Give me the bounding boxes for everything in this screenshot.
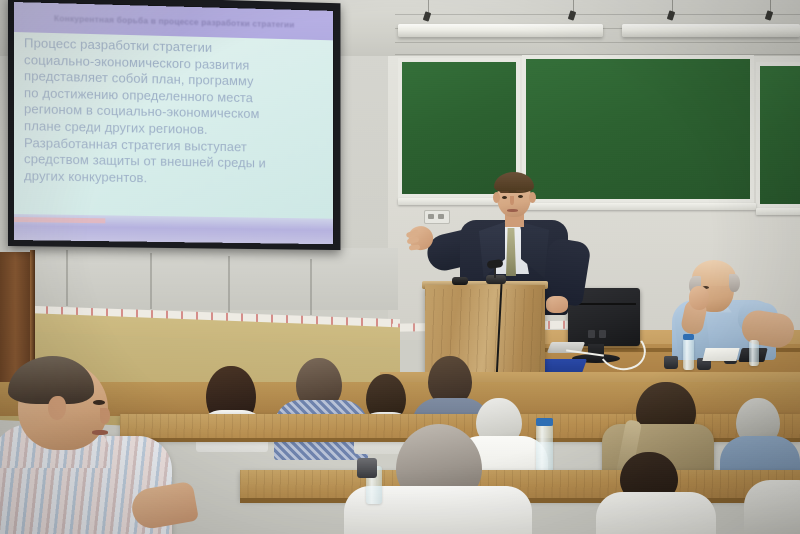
water-bottle-cap-audience-1: [536, 418, 553, 426]
chalk-rail-right: [756, 208, 800, 215]
wall-panel-seam-2: [150, 253, 152, 309]
audience-right-edge-person: [744, 480, 800, 534]
panelist-hand-on-chin: [689, 286, 709, 310]
chalk-rail-center: [522, 203, 756, 210]
audience-white-shirt-right-body: [596, 492, 716, 534]
wall-panel-seam-3: [228, 256, 230, 312]
panelist-hair-right: [729, 274, 740, 292]
wall-outlet-socket-a: [428, 214, 434, 219]
striped-shirt-man-ear: [48, 396, 66, 420]
presenter-mouth: [507, 209, 518, 212]
water-bottle-cap-panelist: [683, 334, 694, 340]
ceiling-lamp-right: [622, 24, 800, 37]
presenter-ear-right: [529, 192, 536, 203]
presenter-hand-on-podium: [546, 296, 568, 313]
presenter-ear-left: [493, 192, 500, 203]
ceiling-lamp-left: [398, 24, 603, 37]
chalkboard-panel-right: [756, 62, 800, 208]
water-bottle-panelist-2: [749, 340, 759, 366]
lecture-hall-photo: Конкурентная борьба в процессе разработк…: [0, 0, 800, 534]
presenter-eye-left: [502, 196, 507, 199]
presenter-brow-right: [516, 190, 525, 192]
presenter-nose: [510, 196, 514, 205]
paper-sheet-1: [702, 348, 739, 361]
microphone-base: [486, 275, 506, 284]
microphone-secondary: [452, 277, 468, 285]
water-bottle-panelist: [683, 338, 694, 370]
projected-slide: Конкурентная борьба в процессе разработк…: [14, 2, 333, 244]
striped-shirt-man-mouth: [92, 430, 108, 435]
monitor-vent: [572, 303, 636, 305]
striped-shirt-man-eye: [93, 400, 105, 405]
chalkboard-panel-center: [522, 55, 754, 203]
slide-title: Конкурентная борьба в процессе разработк…: [28, 12, 319, 30]
wall-panel-seam-4: [310, 259, 312, 315]
wall-outlet-socket-b: [438, 214, 444, 219]
presenter-eye-right: [518, 195, 523, 198]
monitor-port-a: [588, 330, 595, 338]
slide-body: Процесс разработки стратегии социально-э…: [14, 32, 333, 219]
presenter-brow-left: [500, 191, 509, 193]
cup-foreground: [357, 458, 377, 478]
wall-panel-seam-1: [66, 250, 68, 306]
striped-shirt-man-nose: [100, 408, 110, 424]
cup-1: [664, 356, 678, 369]
